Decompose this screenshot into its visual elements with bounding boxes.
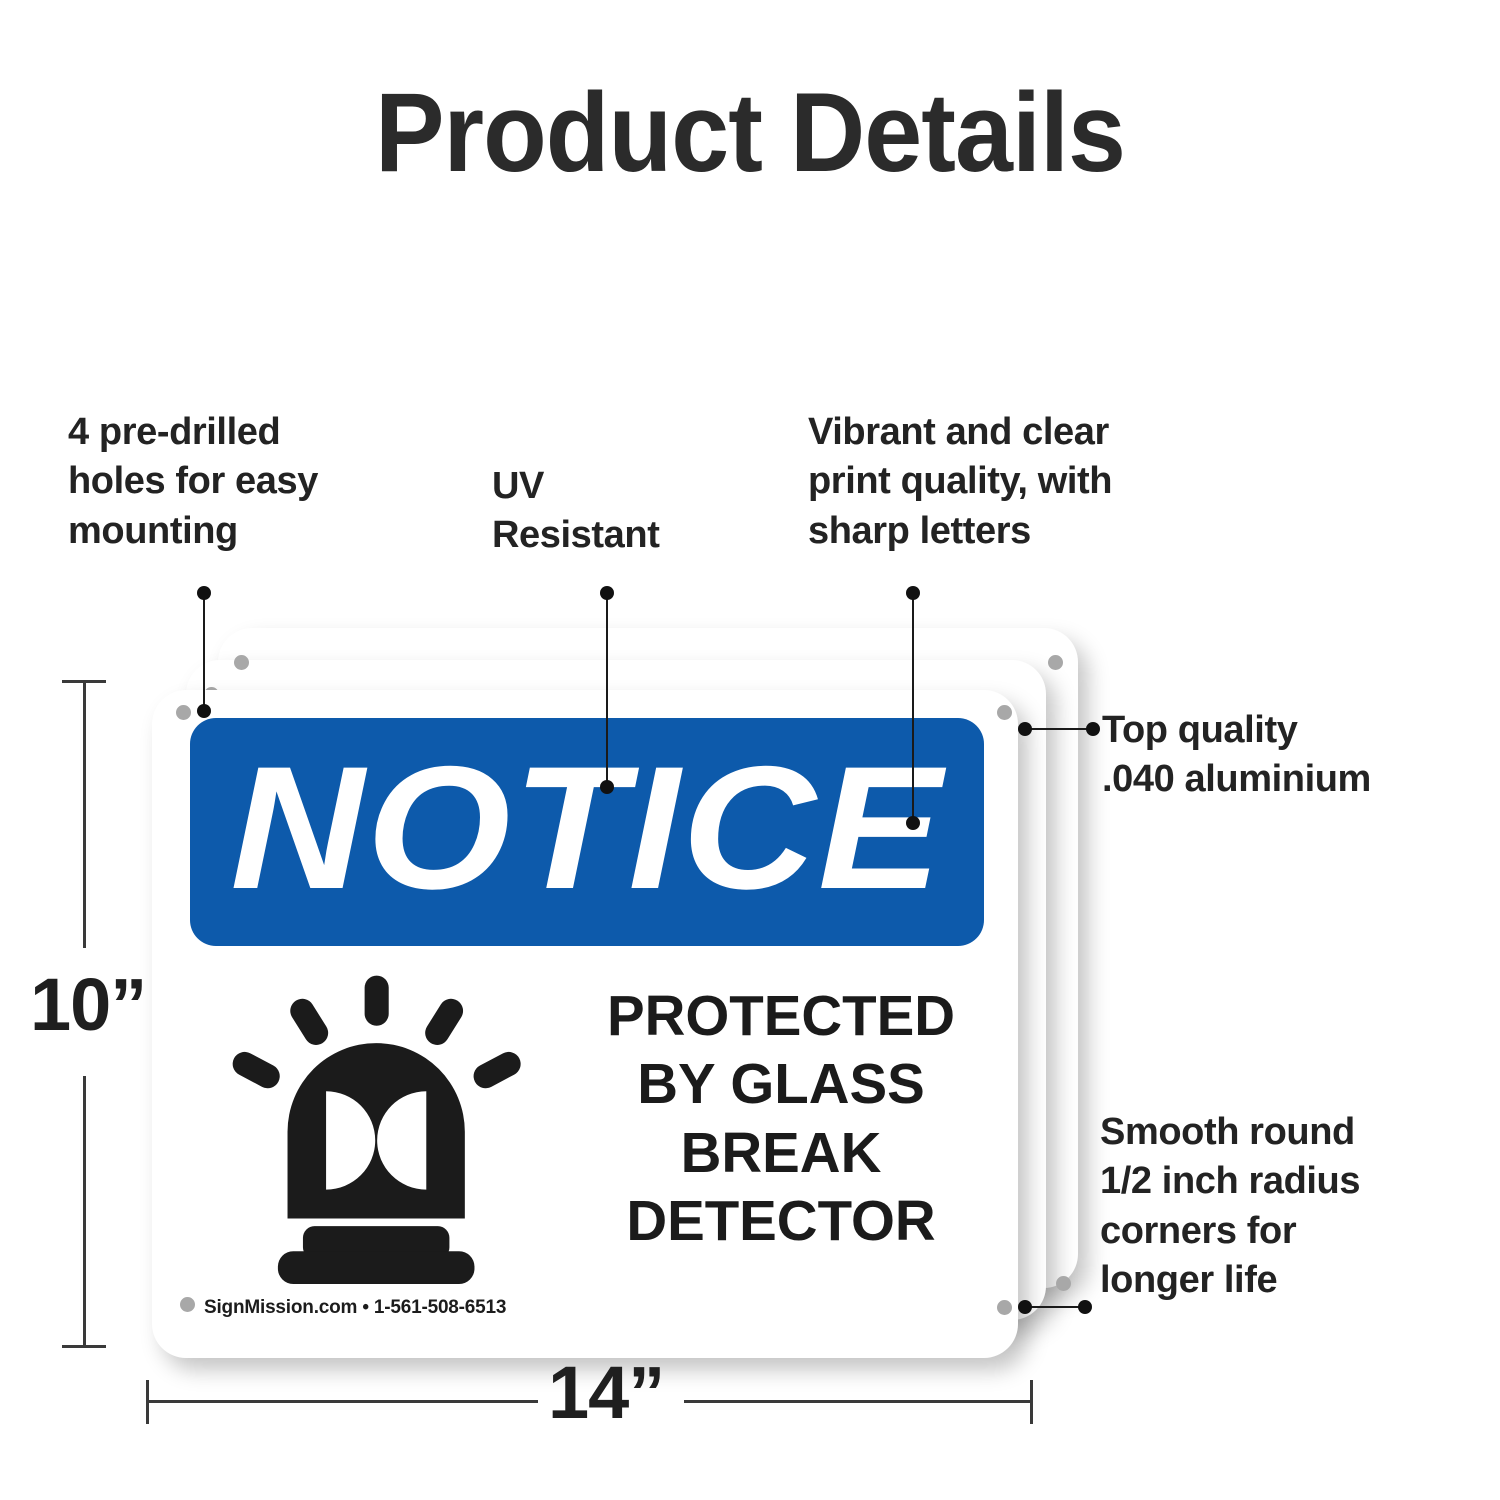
callout-top-quality-aluminium: Top quality .040 aluminium xyxy=(1102,706,1500,805)
sign-footer-text: SignMission.com • 1-561-508-6513 xyxy=(204,1297,506,1319)
dim-width-line-left xyxy=(146,1400,538,1403)
notice-banner-label: NOTICE xyxy=(190,718,984,946)
leader-line-uv xyxy=(606,592,608,788)
dim-height-line-lower xyxy=(83,1076,86,1348)
callout-print-quality: Vibrant and clear print quality, with sh… xyxy=(808,408,1278,556)
leader-line-aluminium xyxy=(1024,728,1094,730)
leader-dot-holes-top xyxy=(197,586,211,600)
leader-dot-aluminium-right xyxy=(1086,722,1100,736)
callout-pre-drilled-holes: 4 pre-drilled holes for easy mounting xyxy=(68,408,468,556)
dim-height-label: 10” xyxy=(30,962,146,1047)
mounting-hole-back-topright xyxy=(1048,655,1063,670)
mounting-hole-front-topright xyxy=(997,705,1012,720)
leader-dot-corners-left xyxy=(1018,1300,1032,1314)
leader-dot-holes-bottom xyxy=(197,704,211,718)
notice-banner: NOTICE xyxy=(190,718,984,946)
leader-dot-corners-right xyxy=(1078,1300,1092,1314)
siren-icon xyxy=(222,966,540,1284)
dim-width-label: 14” xyxy=(548,1350,664,1435)
leader-dot-aluminium-left xyxy=(1018,722,1032,736)
mounting-hole-front-topleft xyxy=(176,705,191,720)
callout-rounded-corners: Smooth round 1/2 inch radius corners for… xyxy=(1100,1108,1500,1306)
callout-uv-resistant: UV Resistant xyxy=(492,462,762,561)
leader-dot-print-bottom xyxy=(906,816,920,830)
leader-line-holes xyxy=(203,592,205,712)
dim-height-cap-bottom xyxy=(62,1345,106,1348)
product-details-infographic: Product Details NOTICE xyxy=(0,0,1500,1500)
dim-width-cap-right xyxy=(1030,1380,1033,1424)
leader-dot-uv-top xyxy=(600,586,614,600)
mounting-hole-front-botleft xyxy=(180,1297,195,1312)
mounting-hole-front-botright xyxy=(997,1300,1012,1315)
page-title: Product Details xyxy=(53,68,1448,197)
mounting-hole-mid-botright xyxy=(1056,1276,1071,1291)
dim-width-line-right xyxy=(684,1400,1032,1403)
mounting-hole-back-topleft xyxy=(234,655,249,670)
leader-line-print xyxy=(912,592,914,824)
leader-dot-uv-bottom xyxy=(600,780,614,794)
sign-body-text: PROTECTED BY GLASS BREAK DETECTOR xyxy=(568,982,994,1256)
dim-height-line-upper xyxy=(83,680,86,948)
leader-line-corners xyxy=(1024,1306,1086,1308)
leader-dot-print-top xyxy=(906,586,920,600)
